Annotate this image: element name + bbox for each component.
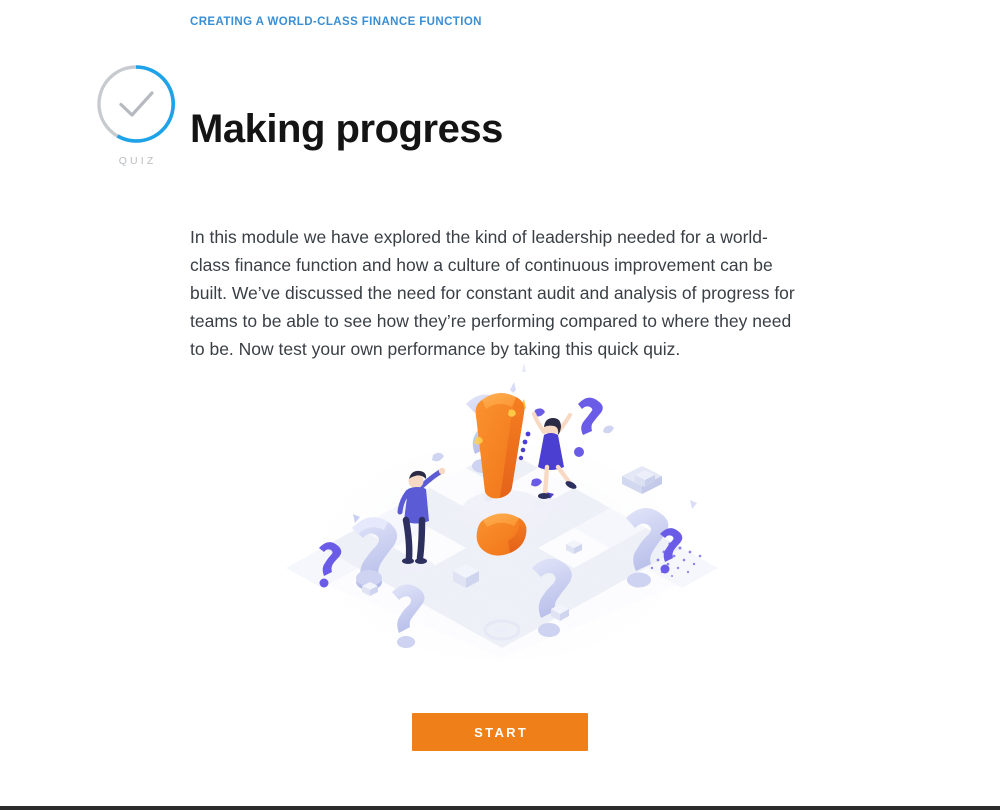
quiz-intro-page: CREATING A WORLD-CLASS FINANCE FUNCTION … xyxy=(0,0,1000,810)
isometric-quiz-illustration xyxy=(270,352,730,682)
intro-paragraph: In this module we have explored the kind… xyxy=(190,223,806,364)
check-icon xyxy=(121,93,152,115)
breadcrumb-course-title: CREATING A WORLD-CLASS FINANCE FUNCTION xyxy=(190,16,482,30)
bottom-rule xyxy=(0,806,1000,810)
progress-arc xyxy=(118,67,174,141)
page-title: Making progress xyxy=(190,106,503,152)
cta-container: START xyxy=(0,713,1000,751)
quiz-badge xyxy=(94,62,178,146)
start-quiz-button[interactable]: START xyxy=(412,713,588,751)
quiz-badge-label: QUIZ xyxy=(94,155,178,167)
